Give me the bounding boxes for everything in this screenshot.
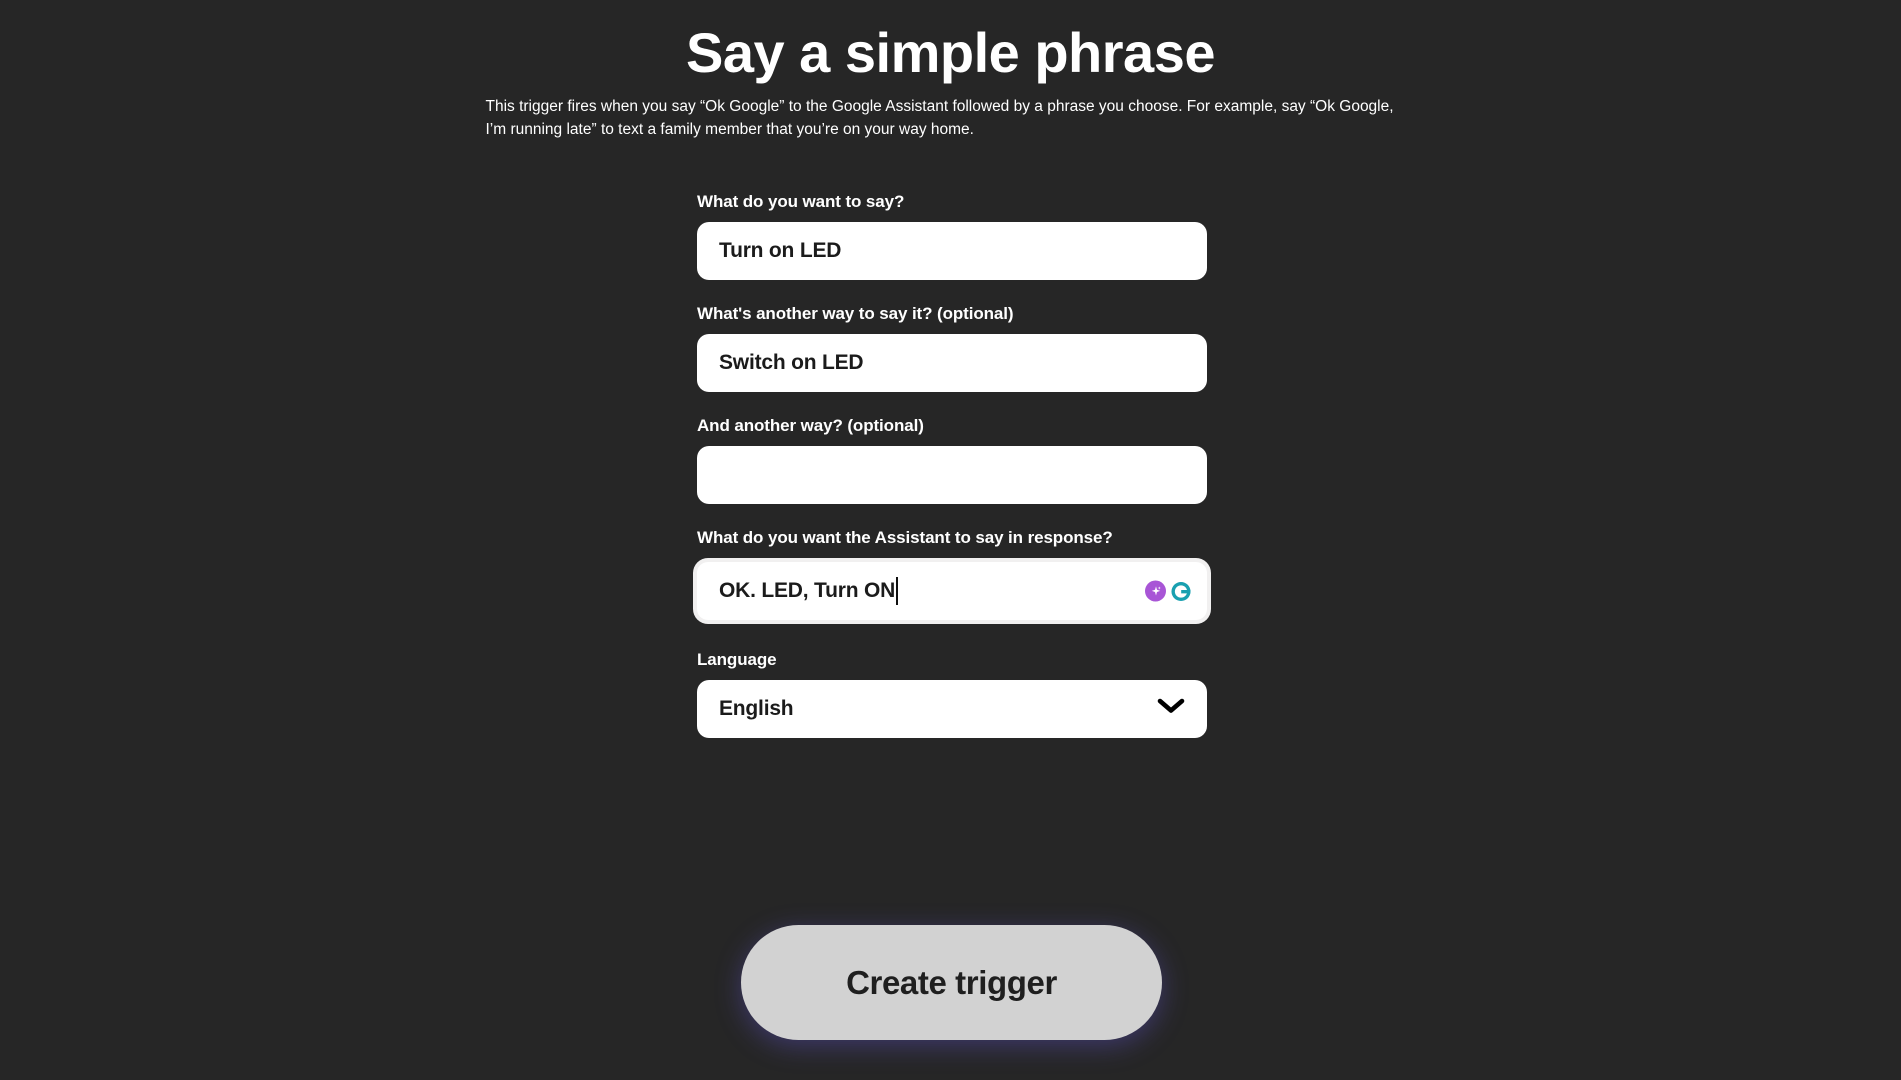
input-assist-icons	[1145, 580, 1192, 603]
phrase-primary-input[interactable]	[697, 222, 1207, 280]
page-root: Say a simple phrase This trigger fires w…	[0, 0, 1901, 1080]
field-label-phrase-primary: What do you want to say?	[697, 190, 1207, 213]
grammarly-icon[interactable]	[1169, 580, 1192, 603]
trigger-form: What do you want to say? What's another …	[697, 190, 1207, 760]
field-phrase-primary: What do you want to say?	[697, 190, 1207, 280]
field-label-assistant-response: What do you want the Assistant to say in…	[697, 526, 1167, 549]
assistant-response-input[interactable]	[697, 562, 1207, 620]
phrase-alt-1-input[interactable]	[697, 334, 1207, 392]
field-phrase-alt-1: What's another way to say it? (optional)	[697, 302, 1207, 392]
page-header: Say a simple phrase This trigger fires w…	[0, 0, 1901, 141]
page-title: Say a simple phrase	[0, 0, 1901, 84]
phrase-alt-2-input[interactable]	[697, 446, 1207, 504]
input-wrap-phrase-primary	[697, 222, 1207, 280]
field-assistant-response: What do you want the Assistant to say in…	[697, 526, 1207, 624]
create-trigger-button[interactable]: Create trigger	[741, 925, 1162, 1040]
field-phrase-alt-2: And another way? (optional)	[697, 414, 1207, 504]
select-wrap-language: English	[697, 680, 1207, 738]
field-label-language: Language	[697, 648, 1207, 671]
field-label-phrase-alt-2: And another way? (optional)	[697, 414, 1207, 437]
page-description: This trigger fires when you say “Ok Goog…	[486, 96, 1416, 141]
language-select[interactable]: English	[697, 680, 1207, 738]
submit-row: Create trigger	[741, 925, 1162, 1040]
field-language: Language English	[697, 648, 1207, 738]
input-wrap-phrase-alt-2	[697, 446, 1207, 504]
input-wrap-assistant-response	[693, 558, 1211, 624]
field-label-phrase-alt-1: What's another way to say it? (optional)	[697, 302, 1207, 325]
input-wrap-phrase-alt-1	[697, 334, 1207, 392]
sparkle-icon[interactable]	[1145, 581, 1166, 602]
